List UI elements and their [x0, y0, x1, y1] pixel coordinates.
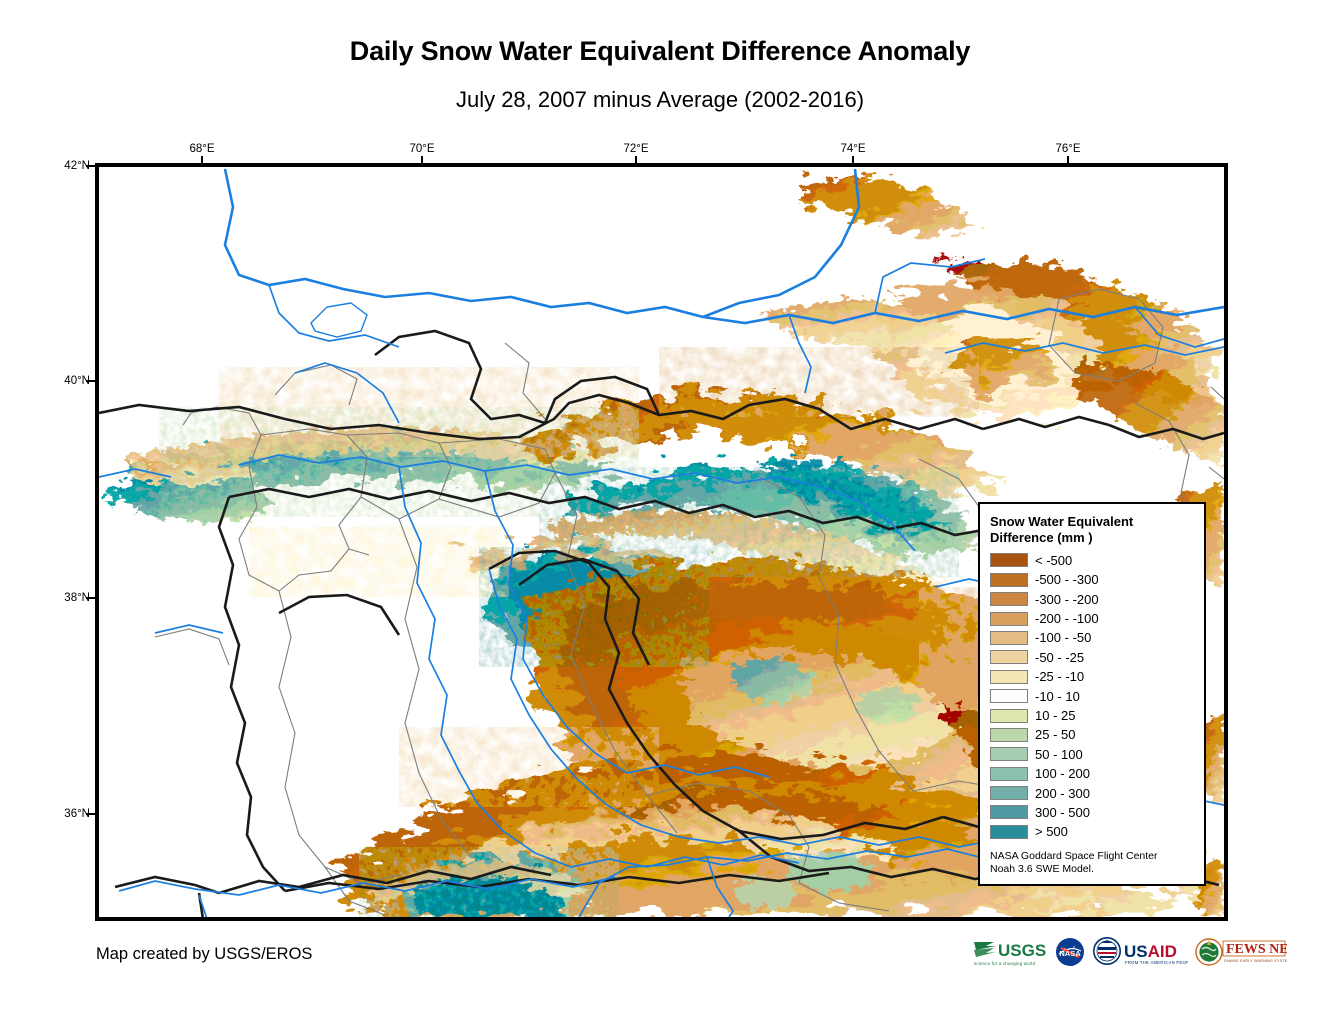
legend-label: -500 - -300 — [1035, 572, 1099, 587]
legend-label: > 500 — [1035, 824, 1068, 839]
legend-swatch — [990, 592, 1028, 606]
nasa-logo[interactable]: NASA — [1055, 936, 1085, 968]
legend-label: -200 - -100 — [1035, 611, 1099, 626]
legend-label: 300 - 500 — [1035, 805, 1090, 820]
nasa-logo-mark: NASA — [1055, 937, 1085, 967]
usgs-logo[interactable]: USGS science for a changing world — [972, 936, 1048, 968]
legend-row: -300 - -200 — [990, 590, 1194, 609]
page-subtitle: July 28, 2007 minus Average (2002-2016) — [0, 88, 1320, 112]
legend-swatch — [990, 689, 1028, 703]
legend-row: 200 - 300 — [990, 783, 1194, 802]
legend-label: -50 - -25 — [1035, 650, 1084, 665]
lon-tick-label: 72°E — [623, 143, 648, 155]
legend-swatch — [990, 747, 1028, 761]
page-title: Daily Snow Water Equivalent Difference A… — [0, 37, 1320, 67]
fewsnet-logo-mark: FEWS NET FAMINE EARLY WARNING SYSTEMS NE… — [1195, 936, 1287, 968]
lon-tick-mark — [1067, 156, 1069, 165]
legend-swatch — [990, 631, 1028, 645]
svg-text:FAMINE EARLY WARNING SYSTEMS N: FAMINE EARLY WARNING SYSTEMS NETWORK — [1224, 959, 1287, 963]
legend-label: 25 - 50 — [1035, 727, 1075, 742]
legend-row: 25 - 50 — [990, 725, 1194, 744]
legend-label: 200 - 300 — [1035, 786, 1090, 801]
legend-label: 10 - 25 — [1035, 708, 1075, 723]
legend-label: -10 - 10 — [1035, 689, 1080, 704]
legend-swatch — [990, 553, 1028, 567]
legend-swatch — [990, 805, 1028, 819]
lat-tick-mark — [86, 813, 95, 815]
svg-text:FROM THE AMERICAN PEOPLE: FROM THE AMERICAN PEOPLE — [1125, 960, 1188, 965]
legend-source-note: NASA Goddard Space Flight Center Noah 3.… — [990, 850, 1194, 877]
legend-row: -100 - -50 — [990, 628, 1194, 647]
svg-text:science for a changing world: science for a changing world — [974, 961, 1036, 966]
lon-tick-mark — [201, 156, 203, 165]
legend-row: -50 - -25 — [990, 648, 1194, 667]
lon-tick-mark — [635, 156, 637, 165]
legend-class-list: < -500-500 - -300-300 - -200-200 - -100-… — [990, 551, 1194, 842]
legend-row: -25 - -10 — [990, 667, 1194, 686]
title-block: Daily Snow Water Equivalent Difference A… — [0, 0, 1320, 112]
usaid-logo-mark: USAID FROM THE AMERICAN PEOPLE — [1092, 936, 1188, 968]
lon-tick-label: 68°E — [189, 143, 214, 155]
legend-label: 50 - 100 — [1035, 747, 1083, 762]
legend-swatch — [990, 612, 1028, 626]
lat-tick-mark — [86, 165, 95, 167]
svg-text:USAID: USAID — [1124, 942, 1177, 961]
svg-text:USGS: USGS — [998, 941, 1046, 960]
legend-label: -300 - -200 — [1035, 592, 1099, 607]
legend-row: 10 - 25 — [990, 706, 1194, 725]
lon-tick-label: 74°E — [840, 143, 865, 155]
lon-tick-mark — [852, 156, 854, 165]
svg-text:NASA: NASA — [1059, 949, 1081, 958]
legend-row: < -500 — [990, 551, 1194, 570]
legend-row: -500 - -300 — [990, 570, 1194, 589]
legend-title: Snow Water Equivalent Difference (mm ) — [990, 514, 1194, 546]
legend-swatch — [990, 767, 1028, 781]
legend-row: 300 - 500 — [990, 803, 1194, 822]
lon-tick-mark — [421, 156, 423, 165]
legend-row: 50 - 100 — [990, 745, 1194, 764]
legend-swatch — [990, 786, 1028, 800]
usgs-logo-mark: USGS science for a changing world — [972, 936, 1048, 968]
legend-swatch — [990, 709, 1028, 723]
legend-label: -25 - -10 — [1035, 669, 1084, 684]
legend-panel: Snow Water Equivalent Difference (mm ) <… — [978, 502, 1206, 886]
legend-row: -200 - -100 — [990, 609, 1194, 628]
logo-bar: USGS science for a changing world NASA U… — [972, 934, 1287, 970]
fewsnet-logo[interactable]: FEWS NET FAMINE EARLY WARNING SYSTEMS NE… — [1195, 936, 1287, 968]
legend-row: > 500 — [990, 822, 1194, 841]
legend-swatch — [990, 670, 1028, 684]
legend-label: < -500 — [1035, 553, 1072, 568]
legend-label: 100 - 200 — [1035, 766, 1090, 781]
lat-tick-mark — [86, 597, 95, 599]
lon-tick-label: 76°E — [1055, 143, 1080, 155]
legend-row: -10 - 10 — [990, 686, 1194, 705]
legend-swatch — [990, 573, 1028, 587]
legend-swatch — [990, 728, 1028, 742]
lat-tick-mark — [86, 380, 95, 382]
lon-tick-label: 70°E — [409, 143, 434, 155]
legend-label: -100 - -50 — [1035, 630, 1091, 645]
legend-swatch — [990, 825, 1028, 839]
legend-swatch — [990, 650, 1028, 664]
usaid-logo[interactable]: USAID FROM THE AMERICAN PEOPLE — [1092, 936, 1188, 968]
map-credit: Map created by USGS/EROS — [96, 945, 312, 964]
svg-text:FEWS NET: FEWS NET — [1226, 942, 1287, 957]
legend-row: 100 - 200 — [990, 764, 1194, 783]
